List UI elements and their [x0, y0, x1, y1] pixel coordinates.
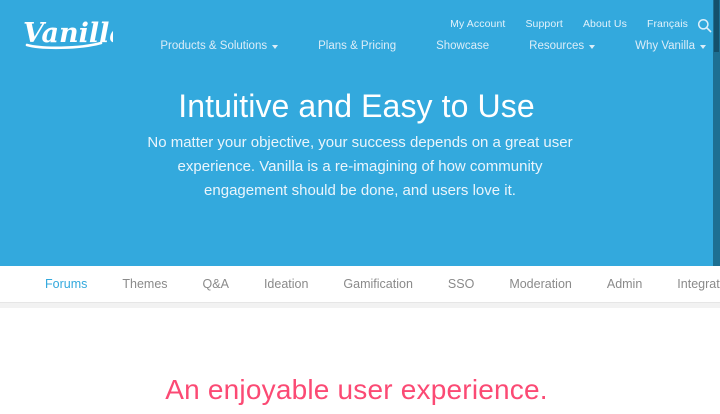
tab-list: Forums Themes Q&A Ideation Gamification …: [0, 277, 720, 291]
search-icon[interactable]: [697, 18, 712, 33]
nav-item-showcase[interactable]: Showcase: [436, 40, 489, 52]
chevron-down-icon: [700, 45, 706, 49]
tab-themes[interactable]: Themes: [122, 277, 167, 291]
tab-admin[interactable]: Admin: [607, 277, 642, 291]
section-heading: An enjoyable user experience.: [0, 374, 713, 406]
chevron-down-icon: [272, 45, 278, 49]
tab-forums[interactable]: Forums: [45, 277, 87, 291]
feature-tabbar: Forums Themes Q&A Ideation Gamification …: [0, 266, 720, 303]
tab-qa[interactable]: Q&A: [203, 277, 229, 291]
nav-item-why-vanilla[interactable]: Why Vanilla: [635, 40, 706, 52]
chevron-down-icon: [589, 45, 595, 49]
utility-link-my-account[interactable]: My Account: [450, 18, 505, 30]
tab-sso[interactable]: SSO: [448, 277, 474, 291]
tab-moderation[interactable]: Moderation: [509, 277, 572, 291]
tab-gamification[interactable]: Gamification: [343, 277, 412, 291]
tab-integrations[interactable]: Integrations: [677, 277, 720, 291]
page-root: Vanilla My Account Support About Us Fran…: [0, 0, 720, 414]
nav-item-plans-pricing[interactable]: Plans & Pricing: [318, 40, 396, 52]
hero-title: Intuitive and Easy to Use: [0, 88, 713, 125]
content-section: An enjoyable user experience.: [0, 308, 720, 414]
hero-banner: Vanilla My Account Support About Us Fran…: [0, 0, 720, 266]
nav-label-plans-pricing: Plans & Pricing: [318, 40, 396, 52]
tab-ideation[interactable]: Ideation: [264, 277, 308, 291]
main-nav: Products & Solutions Plans & Pricing Sho…: [160, 40, 706, 52]
utility-nav: My Account Support About Us Français: [450, 18, 688, 30]
utility-link-support[interactable]: Support: [525, 18, 562, 30]
nav-label-why-vanilla: Why Vanilla: [635, 40, 695, 52]
nav-label-showcase: Showcase: [436, 40, 489, 52]
nav-label-products-solutions: Products & Solutions: [160, 40, 267, 52]
nav-item-resources[interactable]: Resources: [529, 40, 595, 52]
utility-link-about-us[interactable]: About Us: [583, 18, 627, 30]
utility-link-francais[interactable]: Français: [647, 18, 688, 30]
page-scrollbar-thumb[interactable]: [714, 0, 719, 52]
nav-label-resources: Resources: [529, 40, 584, 52]
vanilla-logo[interactable]: Vanilla: [23, 16, 113, 50]
hero-subtitle: No matter your objective, your success d…: [144, 131, 576, 203]
nav-item-products-solutions[interactable]: Products & Solutions: [160, 40, 278, 52]
page-scrollbar-track[interactable]: [713, 0, 720, 266]
